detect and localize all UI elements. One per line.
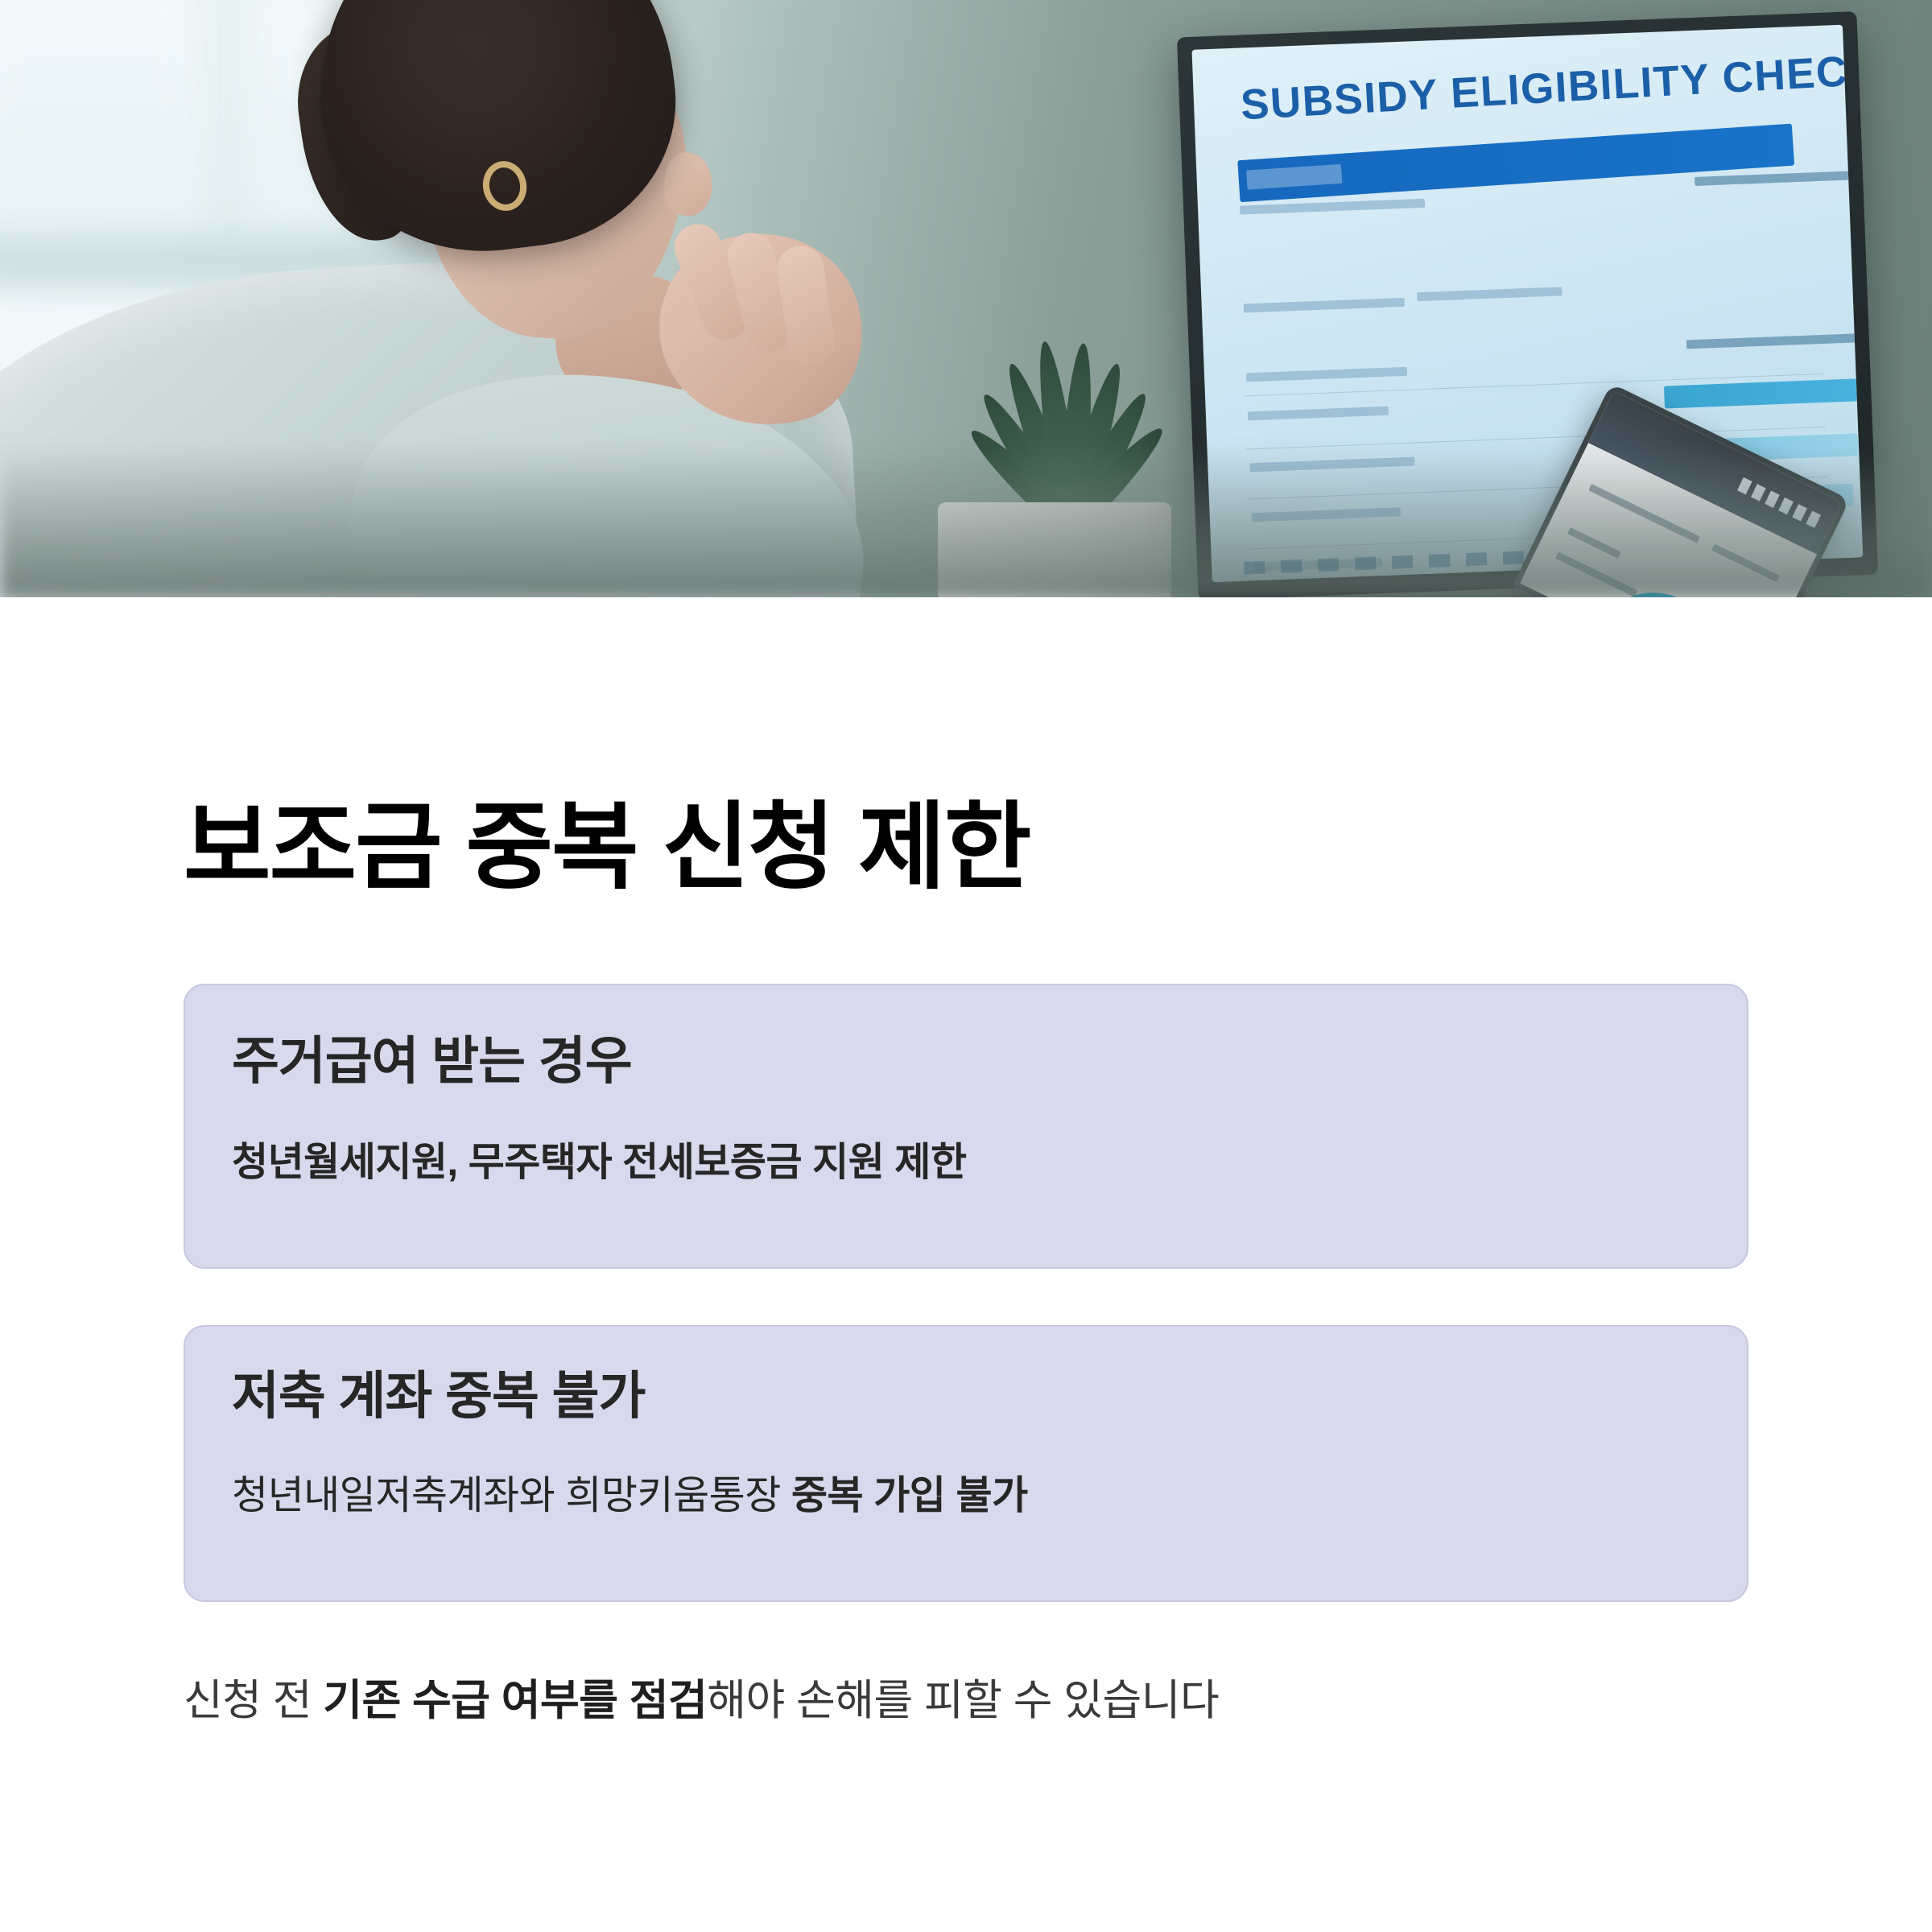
screen-text-line: [1248, 407, 1389, 421]
screen-text-line: [1686, 332, 1864, 349]
hero-photo: SUBSIDY ELIGIBILITY CHECK: [0, 0, 1932, 599]
screen-text-line: [1240, 199, 1425, 215]
screen-title: SUBSIDY ELIGIBILITY CHECK: [1240, 45, 1864, 130]
screen-text-line: [1417, 287, 1562, 301]
info-card-2-body: 청년내일저축계좌와 희망키움통장 중복 가입 불가: [232, 1472, 1028, 1521]
content-area: 보조금 중복 신청 제한 주거급여 받는 경우 청년월세지원, 무주택자 전세보…: [0, 599, 1932, 1932]
footnote-tail: 해야 손해를 피할 수 있습니다: [707, 1677, 1219, 1724]
info-card-1-title: 주거급여 받는 경우: [232, 1035, 632, 1087]
screen-text-line: [1244, 298, 1405, 313]
screen-text-line: [1695, 169, 1863, 186]
info-card-1: 주거급여 받는 경우 청년월세지원, 무주택자 전세보증금 지원 제한: [184, 984, 1748, 1269]
desk-surface: [0, 446, 1932, 599]
footnote: 신청 전 기존 수급 여부를 점검해야 손해를 피할 수 있습니다: [184, 1666, 1219, 1728]
footnote-emphasis: 기존 수급 여부를 점검: [323, 1677, 707, 1724]
info-card-2: 저축 계좌 중복 불가 청년내일저축계좌와 희망키움통장 중복 가입 불가: [184, 1325, 1748, 1602]
info-card-1-body-bold: 청년월세지원, 무주택자 전세보증금 지원 제한: [232, 1141, 967, 1184]
screen-header-bar: [1237, 124, 1794, 203]
screen-text-line: [1246, 367, 1407, 382]
info-card-2-title: 저축 계좌 중복 불가: [232, 1370, 645, 1422]
screen-progress-chip: [1664, 378, 1858, 408]
info-card-2-body-regular: 청년내일저축계좌와 희망키움통장: [232, 1474, 791, 1517]
poster-page: SUBSIDY ELIGIBILITY CHECK: [0, 0, 1932, 1932]
info-card-1-body: 청년월세지원, 무주택자 전세보증금 지원 제한: [232, 1138, 967, 1187]
footnote-lead: 신청 전: [184, 1677, 323, 1724]
info-card-2-body-bold: 중복 가입 불가: [791, 1474, 1028, 1517]
page-title: 보조금 중복 신청 제한: [184, 800, 1030, 895]
